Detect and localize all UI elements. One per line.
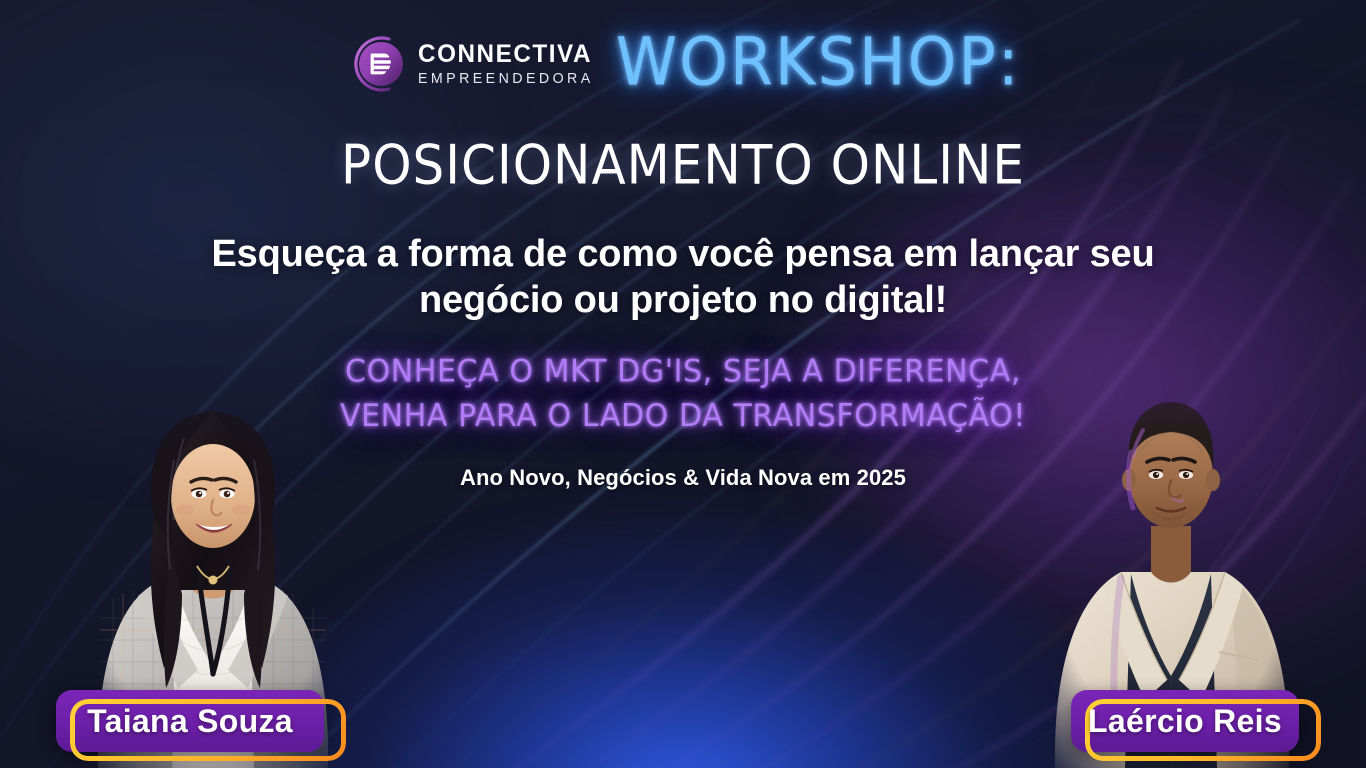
banner-content: CONNECTIVA EMPREENDEDORA WORKSHOP: POSIC… [0,0,1366,768]
banner-header: CONNECTIVA EMPREENDEDORA WORKSHOP: [0,32,1366,96]
presenter-name-badge-right: Laércio Reis [1071,690,1321,760]
brand-logo: CONNECTIVA EMPREENDEDORA [345,32,597,96]
connectiva-circle-e-logo-icon [345,32,409,96]
page-title: POSICIONAMENTO ONLINE [0,138,1366,192]
presenter-name-badge-left: Taiana Souza [56,690,346,760]
headline: Esqueça a forma de como você pensa em la… [123,232,1243,323]
headline-line-2: negócio ou projeto no digital! [123,278,1243,324]
brand-wordmark: CONNECTIVA EMPREENDEDORA [418,42,597,87]
presenter-name-left: Taiana Souza [56,690,324,752]
brand-name: CONNECTIVA [418,42,592,67]
brand-tagline: EMPREENDEDORA [418,72,594,87]
headline-line-1: Esqueça a forma de como você pensa em la… [123,232,1243,278]
presenter-name-right: Laércio Reis [1071,690,1299,752]
workshop-promo-banner: CONNECTIVA EMPREENDEDORA WORKSHOP: POSIC… [0,0,1366,768]
workshop-eyebrow: WORKSHOP: [616,29,1021,95]
